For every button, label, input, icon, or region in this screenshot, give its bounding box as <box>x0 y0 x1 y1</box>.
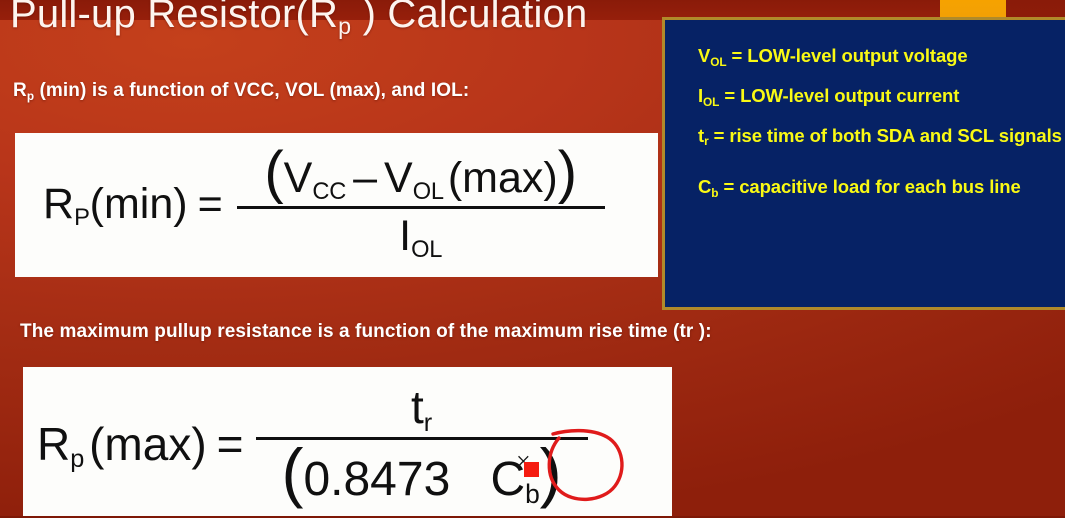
definitions-list: VOL = LOW-level output voltage IOL = LOW… <box>698 45 1065 216</box>
slide-canvas: Pull-up Resistor(Rp ) Calculation Rp (mi… <box>0 0 1065 518</box>
definition-item-iol: IOL = LOW-level output current <box>698 85 1065 107</box>
formula-max-lhs-arg: (max) <box>84 418 207 470</box>
definition-symbol-vol: V <box>698 45 710 66</box>
formula-max-close-paren: ) <box>540 435 562 509</box>
formula-max-den-subscript: b <box>525 479 539 509</box>
bullet-one-prefix: R <box>13 80 27 101</box>
definition-symbol-cb-subscript: b <box>711 186 718 200</box>
definition-symbol-tr-subscript: r <box>704 134 709 148</box>
formula-min-den-subscript: OL <box>411 237 442 263</box>
formula-min-den-var: I <box>399 212 411 260</box>
formula-min-v1-subscript: CC <box>312 179 346 205</box>
formula-min-lhs-subscript: P <box>74 205 90 231</box>
formula-min-lhs-var: R <box>43 180 74 228</box>
formula-min-equals: = <box>198 180 223 229</box>
formula-box-rp-max: Rp(max) = tr (0.8473×Cb) <box>23 367 672 518</box>
formula-max-open-paren: ( <box>281 435 303 509</box>
definition-item-tr: tr = rise time of both SDA and SCL signa… <box>698 125 1065 147</box>
formula-min-lhs: RP(min) <box>43 180 188 229</box>
definition-symbol-iol-subscript: OL <box>703 95 719 109</box>
definition-symbol-vol-subscript: OL <box>710 55 726 69</box>
formula-rp-min: RP(min) = (VCC–VOL(max)) IOL <box>43 147 605 261</box>
definition-text-iol: = LOW-level output current <box>719 85 959 106</box>
formula-min-fraction: (VCC–VOL(max)) IOL <box>237 147 605 261</box>
formula-max-fraction-bar <box>256 437 588 440</box>
bullet-line-rp-min: Rp (min) is a function of VCC, VOL (max)… <box>13 80 469 102</box>
definition-text-tr: = rise time of both SDA and SCL signals <box>709 125 1062 146</box>
formula-min-arg: (max) <box>444 154 558 202</box>
formula-min-open-paren: ( <box>264 140 283 205</box>
definition-text-vol: = LOW-level output voltage <box>726 45 967 66</box>
page-title-suffix: ) Calculation <box>351 0 587 36</box>
page-title: Pull-up Resistor(Rp ) Calculation <box>10 0 588 37</box>
formula-max-equals: = <box>217 417 244 471</box>
definition-item-vol: VOL = LOW-level output voltage <box>698 45 1065 67</box>
formula-min-numerator: (VCC–VOL(max)) <box>258 147 583 203</box>
definition-item-cb: Cb = capacitive load for each bus line <box>698 176 1065 198</box>
formula-min-minus: – <box>346 154 384 202</box>
formula-max-num-var: t <box>411 381 424 433</box>
formula-max-numerator: tr <box>405 380 438 434</box>
formula-max-lhs: Rp(max) <box>37 417 207 471</box>
page-title-subscript: p <box>338 13 351 39</box>
bullet-one-subscript: p <box>27 90 34 103</box>
formula-max-constant: 0.8473 <box>303 453 450 506</box>
formula-min-lhs-arg: (min) <box>90 180 188 228</box>
bullet-line-rp-max: The maximum pullup resistance is a funct… <box>20 321 712 343</box>
formula-rp-max: Rp(max) = tr (0.8473×Cb) <box>37 380 588 507</box>
formula-max-lhs-subscript: p <box>70 445 84 473</box>
ink-cursor-marker <box>524 462 539 477</box>
page-title-prefix: Pull-up Resistor(R <box>10 0 338 36</box>
formula-min-v2: V <box>384 154 413 202</box>
definition-symbol-cb: C <box>698 176 711 197</box>
definitions-panel: VOL = LOW-level output voltage IOL = LOW… <box>662 17 1065 310</box>
formula-box-rp-min: RP(min) = (VCC–VOL(max)) IOL <box>15 133 658 277</box>
formula-min-close-paren: ) <box>558 140 577 205</box>
formula-min-v2-subscript: OL <box>413 179 444 205</box>
definition-text-cb: = capacitive load for each bus line <box>718 176 1020 197</box>
formula-max-lhs-var: R <box>37 418 70 470</box>
formula-max-num-subscript: r <box>424 409 432 437</box>
formula-min-v1: V <box>284 154 313 202</box>
bullet-one-suffix: (min) is a function of VCC, VOL (max), a… <box>34 80 469 101</box>
formula-max-fraction: tr (0.8473×Cb) <box>256 380 588 507</box>
formula-min-fraction-bar <box>237 206 605 209</box>
formula-min-denominator: IOL <box>393 212 448 261</box>
